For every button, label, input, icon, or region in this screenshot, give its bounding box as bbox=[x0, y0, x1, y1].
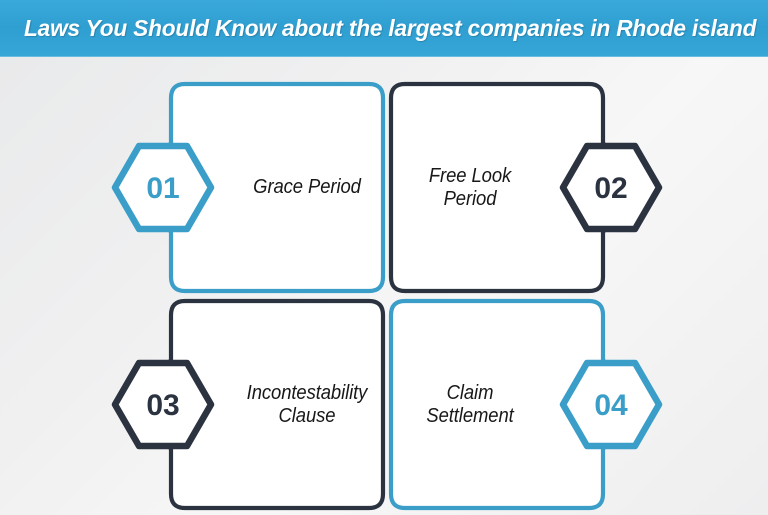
card-02-number: 02 bbox=[594, 172, 627, 205]
card-04-shape: 04 bbox=[387, 297, 607, 512]
card-01-shape: 01 bbox=[167, 80, 387, 295]
cards-grid: 01 Grace Period 02 Free Look Period bbox=[0, 57, 768, 515]
card-04-number: 04 bbox=[594, 389, 628, 422]
card-01-number: 01 bbox=[146, 172, 179, 205]
card-02-shape: 02 bbox=[387, 80, 607, 295]
card-02[interactable]: 02 Free Look Period bbox=[387, 80, 607, 295]
card-03-number: 03 bbox=[146, 389, 179, 422]
header-banner: Laws You Should Know about the largest c… bbox=[0, 0, 768, 57]
card-03[interactable]: 03 Incontestability Clause bbox=[167, 297, 387, 512]
page-title: Laws You Should Know about the largest c… bbox=[24, 15, 756, 42]
card-03-shape: 03 bbox=[167, 297, 387, 512]
card-04[interactable]: 04 Claim Settlement bbox=[387, 297, 607, 512]
infographic-page: Laws You Should Know about the largest c… bbox=[0, 0, 768, 515]
card-01[interactable]: 01 Grace Period bbox=[167, 80, 387, 295]
